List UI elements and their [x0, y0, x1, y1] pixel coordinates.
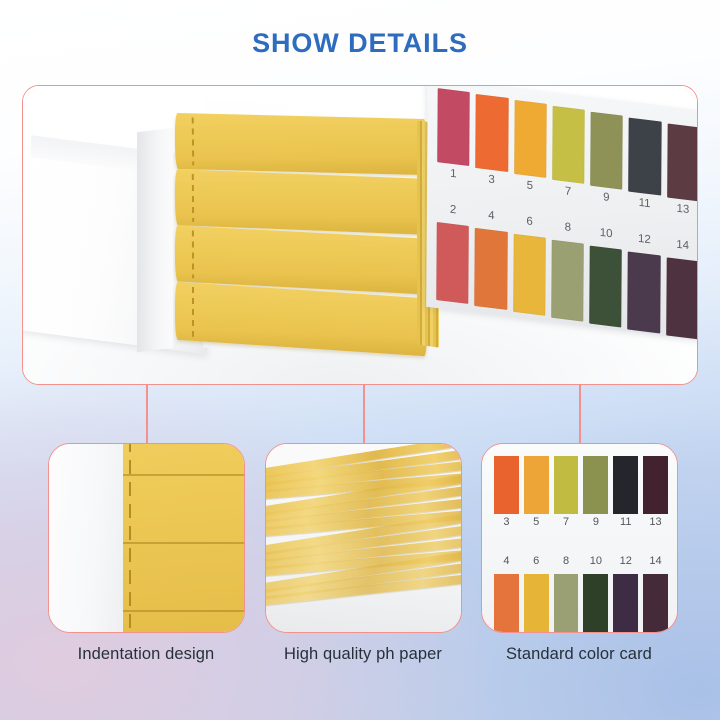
ph-value-label: 11 — [628, 196, 660, 212]
ph-swatch-14 — [643, 574, 668, 633]
ph-value-label: 10 — [583, 555, 608, 567]
ph-swatch-cell: 10 — [589, 224, 622, 328]
ph-swatch-cell: 8 — [551, 218, 584, 322]
thumb-chart-row-odd: 35791113 — [494, 456, 668, 534]
page-title: SHOW DETAILS — [0, 28, 720, 59]
chart-row-odd: 135791113 — [437, 88, 698, 220]
ph-swatch-7 — [552, 106, 585, 184]
ph-swatch-cell: 10 — [583, 554, 608, 632]
ph-swatch-12 — [613, 574, 638, 633]
ph-swatch-9 — [590, 112, 623, 190]
ph-swatch-cell: 1 — [437, 88, 470, 192]
product-detail-page: SHOW DETAILS 135791113 2468101214 — [0, 0, 720, 720]
ph-value-label: 12 — [613, 555, 638, 567]
ph-value-label: 6 — [524, 555, 549, 567]
ph-swatch-10 — [583, 574, 608, 633]
thumb-indentation-design[interactable] — [48, 443, 245, 633]
ph-swatch-3 — [475, 94, 508, 172]
ph-value-label: 8 — [552, 220, 584, 236]
ph-value-label: 7 — [552, 184, 584, 200]
ph-swatch-8 — [551, 240, 584, 322]
ph-swatch-cell: 3 — [494, 456, 519, 534]
ph-value-label: 9 — [590, 190, 622, 206]
booklet-spine — [137, 128, 173, 352]
ph-swatch-3 — [494, 456, 519, 514]
ph-value-label: 5 — [514, 178, 546, 194]
ph-swatch-cell: 11 — [613, 456, 638, 534]
ph-swatch-6 — [524, 574, 549, 633]
ph-swatch-cell: 5 — [524, 456, 549, 534]
ph-swatch-11 — [613, 456, 638, 514]
ph-swatch-cell: 8 — [554, 554, 579, 632]
standard-colour-chart-card: 135791113 2468101214 — [426, 85, 698, 341]
ph-swatch-cell: 3 — [475, 94, 508, 198]
ph-swatch-8 — [554, 574, 579, 633]
ph-swatch-5 — [514, 100, 547, 178]
ph-value-label: 13 — [643, 516, 668, 528]
thumb-standard-color-card[interactable]: 35791113 468101214 — [481, 443, 678, 633]
ph-swatch-cell: 6 — [524, 554, 549, 632]
ph-swatch-cell: 14 — [643, 554, 668, 632]
colour-card-closeup: 35791113 468101214 — [488, 448, 674, 632]
ph-swatch-10 — [589, 246, 622, 328]
ph-paper-band — [175, 282, 427, 357]
ph-swatch-cell: 7 — [554, 456, 579, 534]
ph-swatch-7 — [554, 456, 579, 514]
ph-swatch-13 — [667, 124, 698, 202]
ph-swatch-4 — [494, 574, 519, 633]
ph-swatch-cell: 6 — [513, 212, 546, 316]
ph-paper-band — [175, 113, 428, 175]
ph-swatch-2 — [436, 222, 469, 304]
ph-paper-closeup — [123, 443, 245, 633]
ph-value-label: 14 — [643, 555, 668, 567]
ph-value-label: 3 — [494, 516, 519, 528]
ph-paper-band — [175, 169, 427, 235]
connector-line-1 — [146, 385, 148, 443]
ph-value-label: 3 — [475, 172, 507, 188]
ph-value-label: 14 — [666, 237, 698, 253]
ph-swatch-cell: 4 — [494, 554, 519, 632]
thumb-high-quality-ph-paper[interactable] — [265, 443, 462, 633]
hero-image-frame: 135791113 2468101214 — [22, 85, 698, 385]
ph-value-label: 10 — [590, 226, 622, 242]
ph-swatch-11 — [629, 118, 662, 196]
ph-swatch-4 — [475, 228, 508, 310]
ph-swatch-cell: 7 — [552, 106, 585, 210]
ph-value-label: 12 — [628, 232, 660, 248]
ph-swatch-cell: 12 — [613, 554, 638, 632]
ph-paper-strip-block — [175, 116, 427, 350]
ph-swatch-cell: 14 — [666, 235, 698, 339]
ph-swatch-14 — [666, 257, 698, 339]
ph-swatch-12 — [628, 252, 661, 334]
ph-value-label: 2 — [437, 202, 469, 218]
ph-value-label: 9 — [583, 516, 608, 528]
booklet-cover-closeup — [48, 443, 127, 633]
ph-swatch-1 — [437, 88, 470, 166]
ph-swatch-cell: 9 — [583, 456, 608, 534]
hero-photo: 135791113 2468101214 — [23, 86, 697, 384]
ph-swatch-5 — [524, 456, 549, 514]
caption-indentation-design: Indentation design — [38, 645, 254, 664]
ph-value-label: 7 — [554, 516, 579, 528]
connector-line-3 — [579, 385, 581, 443]
ph-value-label: 5 — [524, 516, 549, 528]
ph-swatch-cell: 11 — [628, 118, 661, 222]
ph-value-label: 8 — [554, 555, 579, 567]
indentation-seam — [123, 474, 245, 476]
ph-swatch-6 — [513, 234, 546, 316]
ph-swatch-13 — [643, 456, 668, 514]
caption-standard-color-card: Standard color card — [471, 645, 687, 664]
ph-value-label: 4 — [475, 208, 507, 224]
ph-swatch-cell: 13 — [667, 124, 698, 228]
ph-swatch-cell: 5 — [514, 100, 547, 204]
ph-value-label: 11 — [613, 516, 638, 528]
ph-swatch-cell: 9 — [590, 112, 623, 216]
ph-value-label: 1 — [437, 166, 469, 182]
perforation-line — [129, 443, 131, 633]
caption-high-quality-ph-paper: High quality ph paper — [255, 645, 471, 664]
indentation-seam — [123, 610, 245, 612]
ph-swatch-cell: 4 — [475, 206, 508, 310]
ph-swatch-9 — [583, 456, 608, 514]
ph-swatch-cell: 2 — [436, 200, 469, 304]
connector-line-2 — [363, 385, 365, 443]
thumb-chart-row-even: 468101214 — [494, 554, 668, 632]
indentation-seam — [123, 542, 245, 544]
ph-swatch-cell: 12 — [628, 230, 661, 334]
ph-swatch-cell: 13 — [643, 456, 668, 534]
ph-value-label: 4 — [494, 555, 519, 567]
ph-paper-stack-closeup — [265, 452, 462, 602]
ph-value-label: 13 — [667, 201, 698, 217]
ph-value-label: 6 — [513, 214, 545, 230]
